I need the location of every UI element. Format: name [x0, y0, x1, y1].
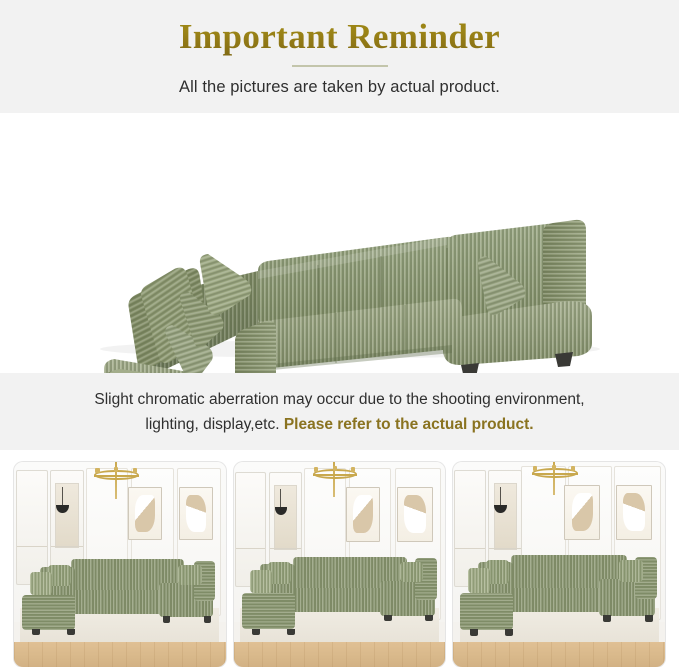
wall-art — [128, 487, 162, 540]
room-scene-1 — [14, 462, 226, 667]
page-subtitle: All the pictures are taken by actual pro… — [179, 76, 500, 98]
product-infographic: Important Reminder All the pictures are … — [0, 0, 679, 667]
disclaimer-accent: Please refer to the actual product. — [284, 416, 534, 433]
cabinet-shelf — [51, 546, 83, 547]
sofa-foot — [67, 629, 75, 635]
chandelier-arm — [313, 474, 357, 476]
sofa-foot — [252, 629, 260, 635]
header-band: Important Reminder All the pictures are … — [0, 0, 679, 113]
wall-art — [616, 485, 652, 540]
chandelier-arm — [532, 473, 579, 475]
title-divider — [292, 65, 388, 67]
room-scene-2 — [234, 462, 446, 667]
sofa-pillow — [400, 562, 424, 582]
sofa-pillow — [30, 572, 51, 595]
sofa-foot — [505, 629, 513, 636]
cabinet-glass — [55, 483, 78, 549]
thumbnail-row — [0, 462, 679, 667]
chandelier-candle — [333, 466, 337, 471]
sofa-illustration — [0, 113, 679, 373]
chandelier-candle — [533, 466, 537, 471]
disclaimer-line-2-plain: lighting, display,etc. — [145, 416, 283, 433]
sofa-foot — [32, 629, 40, 635]
pendant-wire — [500, 487, 501, 508]
disclaimer-line-1: Slight chromatic aberration may occur du… — [94, 391, 584, 408]
wall-art — [179, 487, 213, 540]
sofa-pillow — [619, 560, 643, 582]
floor-grain — [453, 642, 665, 667]
cabinet-glass — [274, 485, 297, 551]
sectional-sofa — [242, 550, 439, 642]
wood-floor — [14, 642, 226, 667]
room-scene-thumbnail-2[interactable] — [234, 462, 446, 667]
sofa-foot — [470, 629, 478, 636]
chandelier-candle — [314, 467, 318, 472]
floor-grain — [234, 642, 446, 667]
sofa-foot — [204, 616, 212, 622]
chandelier-candle — [351, 467, 355, 472]
sofa-left-arm — [22, 595, 75, 629]
sofa-left-arm — [460, 593, 514, 630]
chandelier-candle — [552, 465, 556, 470]
pendant-wire — [62, 487, 63, 508]
sofa-pillow — [250, 570, 272, 594]
sofa-foot — [603, 615, 611, 622]
sofa-pillow — [468, 568, 490, 593]
sofa-pillow — [178, 565, 201, 585]
room-scene-thumbnail-1[interactable] — [14, 462, 226, 667]
sofa-foot — [645, 615, 653, 622]
wood-floor — [234, 642, 446, 667]
pendant-wire — [280, 489, 281, 510]
wall-art — [564, 485, 600, 540]
cabinet-shelf — [17, 546, 47, 547]
page-title: Important Reminder — [179, 16, 500, 58]
sofa-foot — [384, 615, 392, 621]
wall-art — [397, 487, 433, 542]
floor-grain — [14, 642, 226, 667]
chandelier-candle — [133, 468, 137, 473]
disclaimer-band: Slight chromatic aberration may occur du… — [0, 373, 679, 450]
hero-product-image — [0, 113, 679, 373]
disclaimer-text: Slight chromatic aberration may occur du… — [30, 387, 650, 437]
hero-product-panel — [0, 113, 679, 373]
room-scene-3 — [453, 462, 665, 667]
sectional-sofa — [22, 552, 217, 642]
chandelier-arm — [94, 475, 138, 477]
sofa-foot — [425, 615, 433, 621]
sofa-foot — [287, 629, 295, 635]
room-scene-thumbnail-3[interactable] — [453, 462, 665, 667]
wood-floor — [453, 642, 665, 667]
cabinet-glass — [494, 483, 517, 551]
chandelier-candle — [114, 467, 118, 472]
chandelier-candle — [95, 468, 99, 473]
sectional-sofa — [460, 548, 659, 642]
sofa-left-arm — [242, 593, 295, 629]
sofa-foot — [163, 616, 171, 622]
wall-art — [346, 487, 380, 542]
chandelier-candle — [571, 466, 575, 471]
